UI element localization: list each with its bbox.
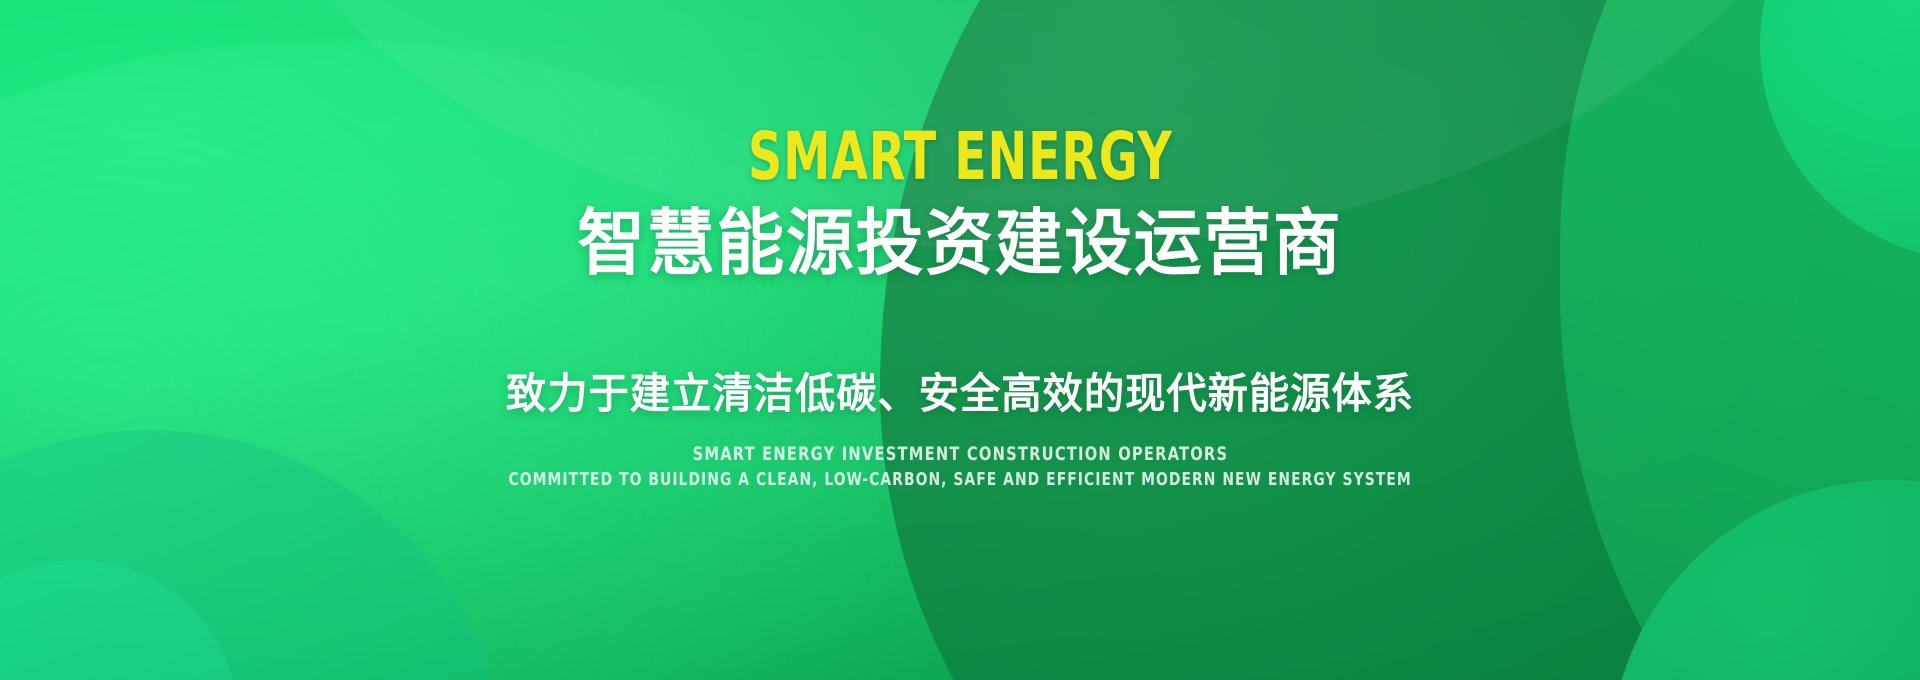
hero-caption-en-secondary: COMMITTED TO BUILDING A CLEAN, LOW-CARBO… xyxy=(508,471,1411,489)
hero-english-captions: SMART ENERGY INVESTMENT CONSTRUCTION OPE… xyxy=(435,445,1485,489)
hero-kicker-en: SMART ENERGY xyxy=(748,124,1172,190)
hero-subheadline-cn: 致力于建立清洁低碳、安全高效的现代新能源体系 xyxy=(506,371,1414,417)
hero-banner: SMART ENERGY 智慧能源投资建设运营商 致力于建立清洁低碳、安全高效的… xyxy=(0,0,1920,680)
hero-caption-en-primary: SMART ENERGY INVESTMENT CONSTRUCTION OPE… xyxy=(692,445,1228,464)
hero-headline-cn: 智慧能源投资建设运营商 xyxy=(577,206,1342,282)
hero-text-block: SMART ENERGY 智慧能源投资建设运营商 致力于建立清洁低碳、安全高效的… xyxy=(0,0,1920,680)
